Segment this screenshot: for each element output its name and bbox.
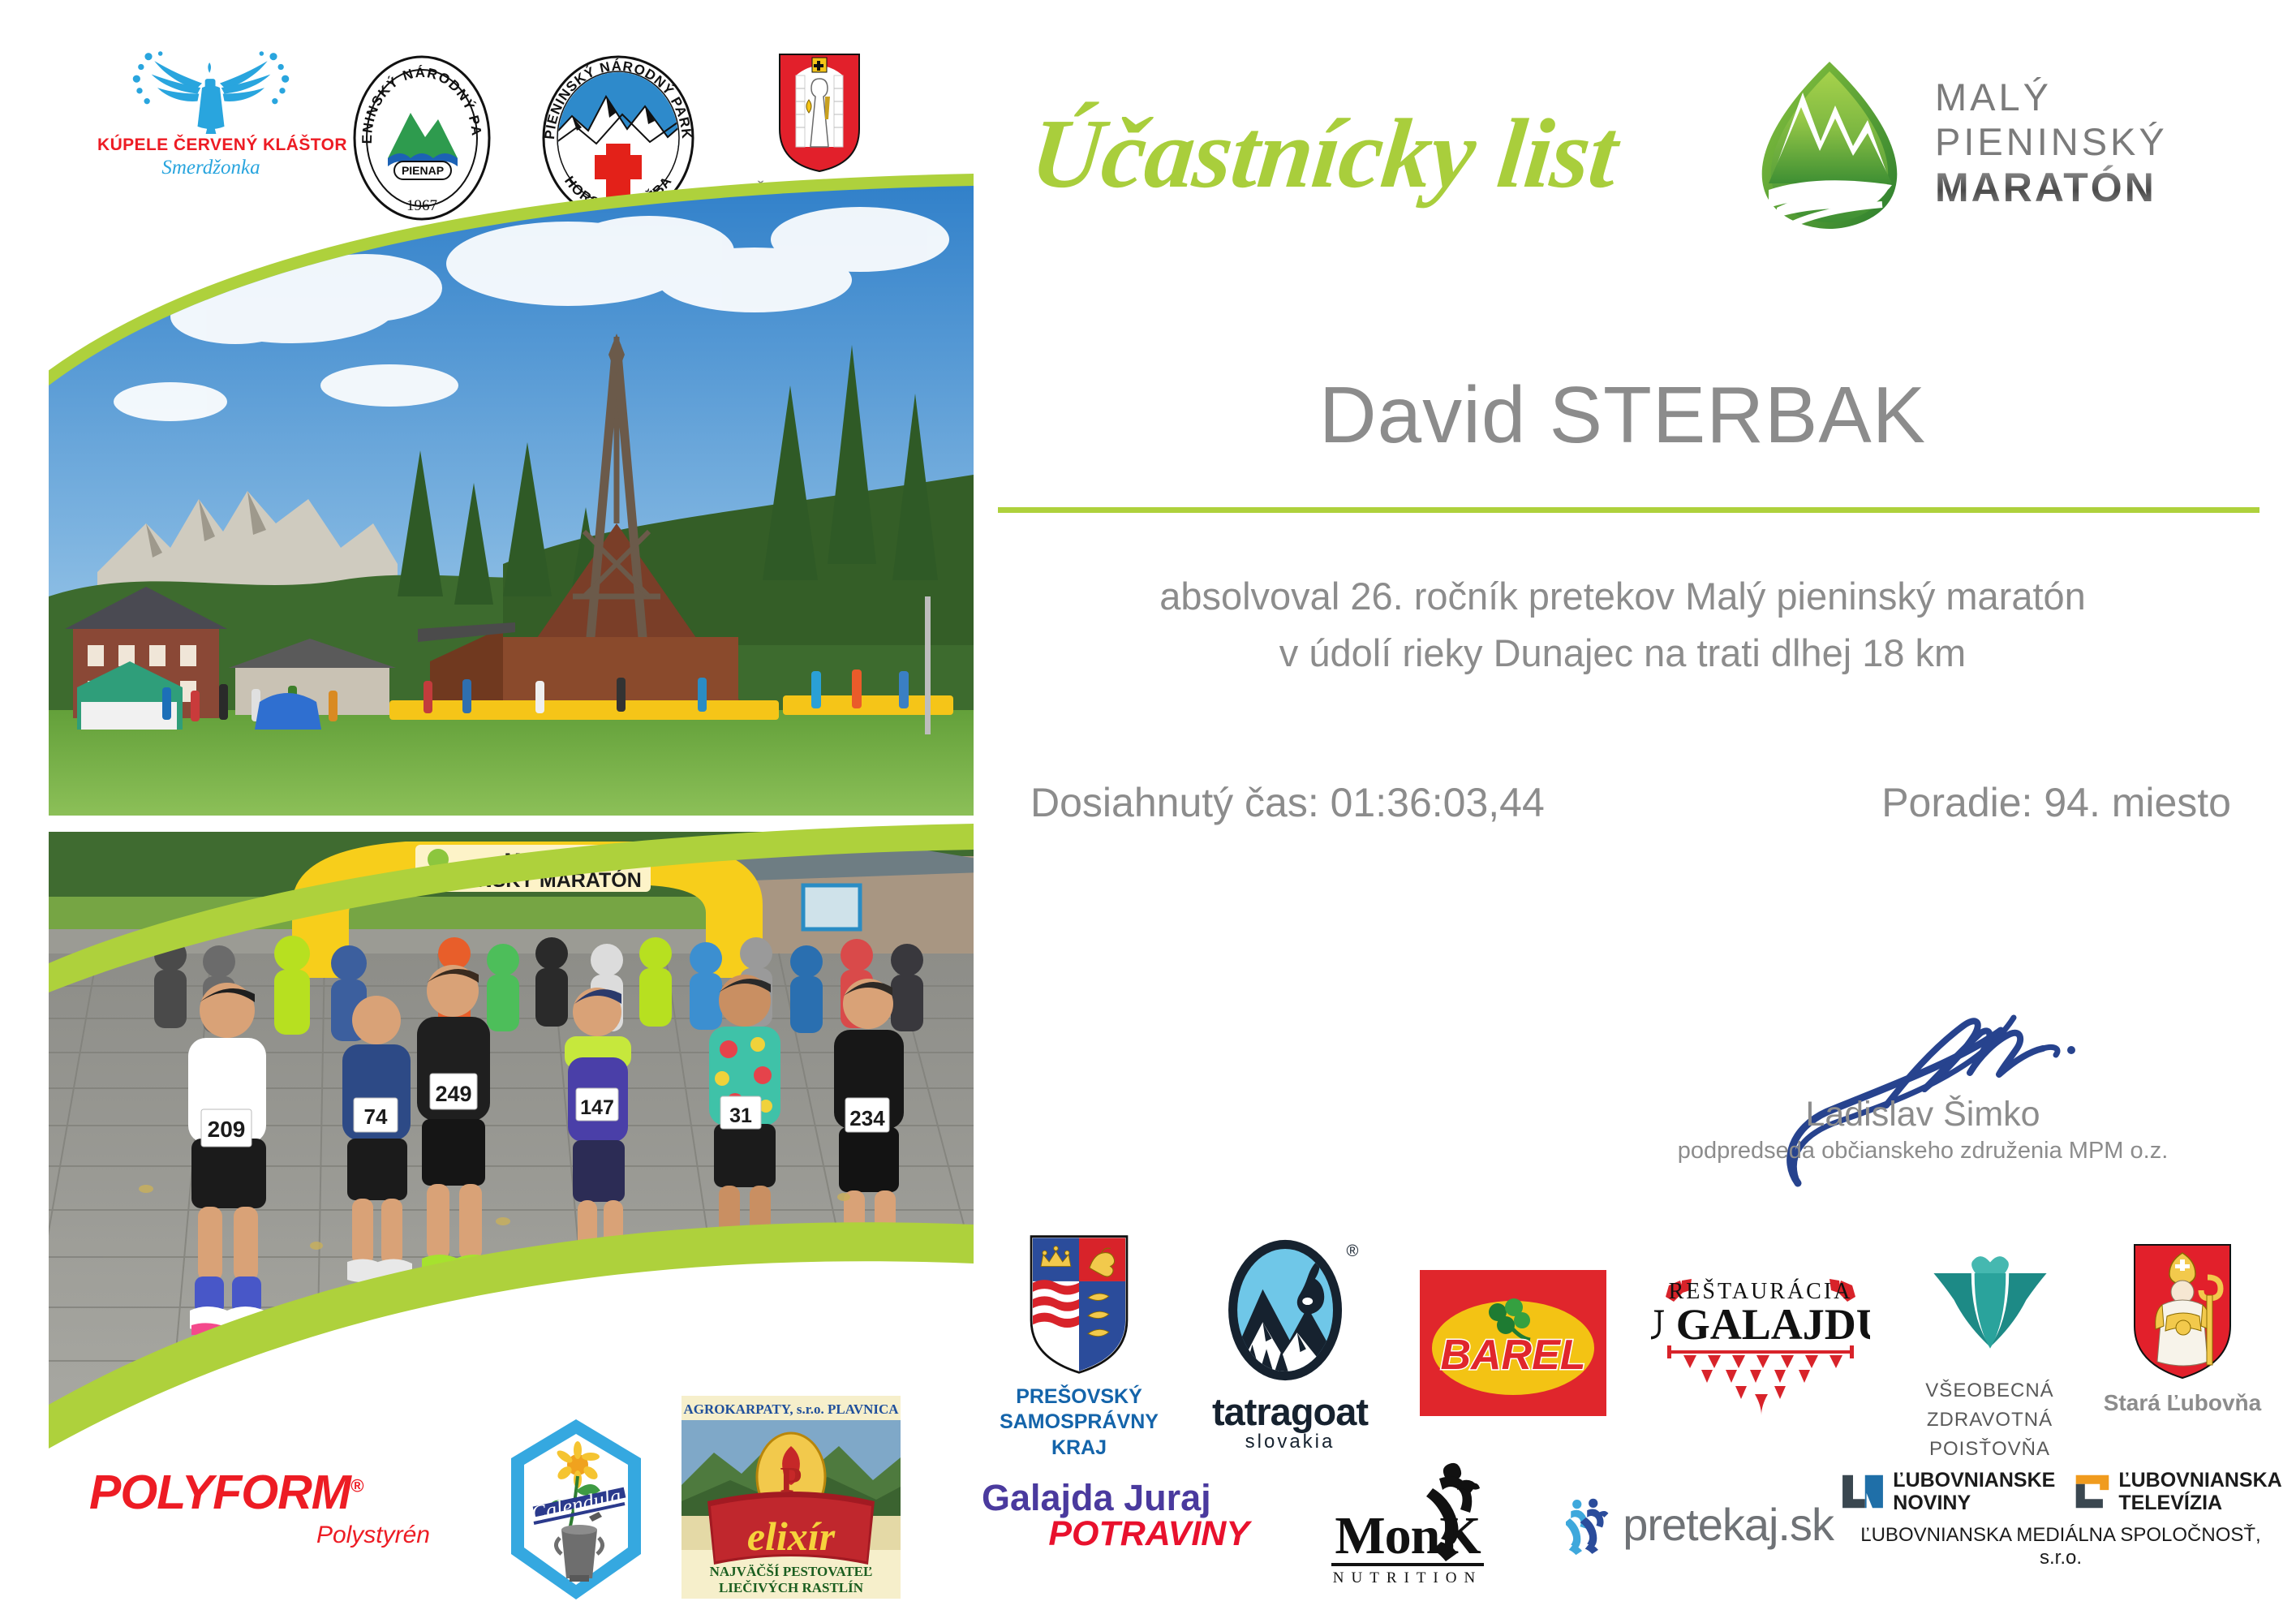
sponsor-logo-calendula: Calendula <box>503 1416 649 1595</box>
svg-text:74: 74 <box>364 1104 388 1129</box>
sponsor-logo-agrokarpaty-elixir: AGROKARPATY, s.r.o. PLAVNICA P elixír NA… <box>681 1396 901 1599</box>
svg-text:147: 147 <box>580 1096 614 1119</box>
green-divider <box>998 507 2259 513</box>
signatory-role: podpredseda občianskeho združenia MPM o.… <box>1639 1138 2207 1165</box>
elixir-line-1: NAJVÄČŠÍ PESTOVATEĽ <box>710 1564 873 1579</box>
coat-of-arms-bishop-icon <box>2130 1242 2235 1380</box>
monk-sub: NUTRITION <box>1290 1569 1525 1587</box>
coat-of-arms-presov-icon <box>1022 1233 1136 1375</box>
registered-icon: ® <box>350 1475 363 1496</box>
chamois-mountain-oval-icon: ® <box>1219 1235 1361 1385</box>
sponsors-grid: PREŠOVSKÝ SAMOSPRÁVNY KRAJ <box>974 1225 2288 1615</box>
sponsor-logo-polyform: POLYFORM® Polystyrén <box>89 1465 430 1549</box>
brand-line-2: PIENINSKÝ <box>1935 119 2296 164</box>
media-caption: ĽUBOVNIANSKA MEDIÁLNA SPOLOČNOSŤ, s.r.o. <box>1850 1524 2272 1569</box>
psk-caption-3: KRAJ <box>990 1436 1168 1461</box>
result-row: Dosiahnutý čas: 01:36:03,44 Poradie: 94.… <box>998 779 2264 826</box>
psk-caption-1: PREŠOVSKÝ <box>990 1384 1168 1410</box>
venue-photo <box>49 174 974 824</box>
polyform-tagline: Polystyrén <box>89 1522 430 1549</box>
svg-text:249: 249 <box>435 1082 471 1106</box>
svg-text:31: 31 <box>729 1104 752 1127</box>
svg-text:234: 234 <box>849 1106 885 1130</box>
sponsor-presovsky-kraj: PREŠOVSKÝ SAMOSPRÁVNY KRAJ <box>990 1233 1168 1461</box>
sponsor-tatragoat: ® tatragoat slovakia <box>1201 1235 1379 1453</box>
brand-logo: MALÝ PIENINSKÝ MARATÓN <box>1744 57 2296 235</box>
elixir-name: elixír <box>747 1513 836 1559</box>
galajda-line-2: POTRAVINY <box>982 1514 1249 1554</box>
achievement-line-1: absolvoval 26. ročník pretekov Malý pien… <box>990 568 2255 625</box>
vszp-caption-2: ZDRAVOTNÁ <box>1903 1406 2077 1435</box>
sponsor-stara-lubovna: Stará Ľubovňa <box>2101 1242 2264 1417</box>
sponsor-monk-nutrition: MonK NUTRITION <box>1290 1461 1525 1587</box>
registered-icon: ® <box>1346 1242 1358 1260</box>
sponsor-u-galajdu: REŠTAURÁCIA U GALAJDU <box>1647 1274 1874 1424</box>
signatory-name: Ladislav Šimko <box>1639 1095 2207 1134</box>
monk-name: MonK <box>1331 1509 1483 1566</box>
brand-line-3: MARATÓN <box>1935 165 2296 212</box>
overall-rank: Poradie: 94. miesto <box>1849 779 2264 826</box>
lubovna-caption: Stará Ľubovňa <box>2101 1388 2264 1417</box>
recipient-name: David STERBAK <box>990 369 2255 461</box>
green-mountain-leaf-icon <box>1744 57 1915 231</box>
ln-line-1: ĽUBOVNIANSKE <box>1893 1469 2055 1492</box>
sponsors-bottom-left: POLYFORM® Polystyrén Calendula <box>89 1371 965 1615</box>
brand-line-1: MALÝ <box>1935 75 2296 119</box>
lt-line-2: TELEVÍZIA <box>2118 1492 2281 1514</box>
finish-time: Dosiahnutý čas: 01:36:03,44 <box>998 779 1577 826</box>
barel-name: BAREL <box>1440 1332 1585 1379</box>
sponsor-galajda-juraj: Galajda Juraj POTRAVINY <box>982 1477 1249 1554</box>
achievement-line-2: v údolí rieky Dunajec na trati dlhej 18 … <box>990 625 2255 682</box>
galajda-line-1: Galajda Juraj <box>982 1477 1249 1519</box>
page-title: Účastnícky list <box>1023 97 1735 235</box>
ln-line-2: NOVINY <box>1893 1492 2055 1514</box>
lt-logo-icon <box>2073 1472 2112 1511</box>
brand-wordmark: MALÝ PIENINSKÝ MARATÓN <box>1935 75 2296 211</box>
sponsor-lubovnianska-media: ĽUBOVNIANSKE NOVINY ĽUBOVNIANSKA TELEVÍZ… <box>1850 1469 2272 1569</box>
two-runners-icon <box>1566 1485 1611 1563</box>
photo-collage: MALÝ PIENINSKÝ MARATÓN <box>49 142 974 1457</box>
galajdu-line-2: U GALAJDU <box>1651 1300 1870 1349</box>
water-angel-icon <box>97 45 325 134</box>
tatragoat-name: tatragoat <box>1201 1389 1379 1434</box>
vszp-caption-3: POISŤOVŇA <box>1903 1435 2077 1464</box>
polyform-name: POLYFORM <box>89 1466 350 1519</box>
tatragoat-sub: slovakia <box>1201 1431 1379 1453</box>
teal-heart-v-icon <box>1917 1250 2063 1367</box>
pretekaj-name: pretekaj.sk <box>1623 1498 1834 1551</box>
sponsor-pretekaj-sk: pretekaj.sk <box>1566 1485 1834 1563</box>
signature-block: Ladislav Šimko podpredseda občianskeho z… <box>1639 998 2207 1165</box>
lt-line-1: ĽUBOVNIANSKA <box>2118 1469 2281 1492</box>
vszp-caption-1: VŠEOBECNÁ <box>1903 1376 2077 1406</box>
psk-caption-2: SAMOSPRÁVNY <box>990 1410 1168 1435</box>
achievement-text: absolvoval 26. ročník pretekov Malý pien… <box>990 568 2255 681</box>
sponsor-barel: BAREL <box>1416 1270 1610 1420</box>
sponsor-vszp: VŠEOBECNÁ ZDRAVOTNÁ POISŤOVŇA <box>1903 1250 2077 1464</box>
handwritten-signature-icon <box>1639 998 2207 1100</box>
ln-logo-icon <box>1839 1472 1886 1511</box>
agrokarpaty-top-text: AGROKARPATY, s.r.o. PLAVNICA <box>683 1401 899 1417</box>
elixir-line-2: LIEČIVÝCH RASTLÍN <box>719 1580 864 1595</box>
svg-text:209: 209 <box>208 1117 246 1142</box>
